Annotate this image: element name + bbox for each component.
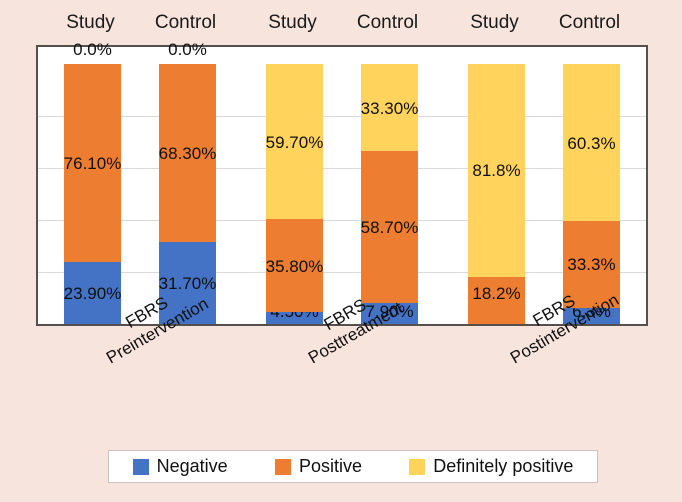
column-header-row: StudyControlStudyControlStudyControl [36,8,648,40]
legend-swatch-icon [133,459,149,475]
bar-value-label: 81.8% [472,162,520,179]
bar-segment-positive[interactable]: 68.30% [159,64,216,242]
legend-item-positive[interactable]: Positive [275,456,362,477]
legend-swatch-icon [409,459,425,475]
legend-label: Definitely positive [433,456,573,477]
bar-value-label: 68.30% [159,145,217,162]
column-header-0: Study [43,8,139,38]
legend-item-definitely-positive[interactable]: Definitely positive [409,456,573,477]
chart-plot-area: 23.90%76.10%0.0%31.70%68.30%0.0%4.50%35.… [36,45,648,326]
chart-legend: NegativePositiveDefinitely positive [108,450,598,483]
bar-value-label: 59.70% [266,134,324,151]
column-header-3: Control [340,8,436,38]
stacked-bar[interactable]: 23.90%76.10%0.0% [64,64,121,324]
bar-segment-positive[interactable]: 58.70% [361,151,418,304]
bar-value-label: 58.70% [361,219,419,236]
bar-segment-positive[interactable]: 76.10% [64,64,121,262]
bar-value-label: 18.2% [472,285,520,302]
stacked-bars-layer: 23.90%76.10%0.0%31.70%68.30%0.0%4.50%35.… [38,47,646,324]
legend-label: Negative [157,456,228,477]
bar-segment-definitely-positive[interactable]: 81.8% [468,64,525,277]
stacked-bar[interactable]: 0.0%18.2%81.8% [468,64,525,324]
column-header-4: Study [447,8,543,38]
bar-value-label: 35.80% [266,258,324,275]
legend-item-negative[interactable]: Negative [133,456,228,477]
bar-segment-negative[interactable]: 23.90% [64,262,121,324]
column-header-2: Study [245,8,341,38]
stacked-bar[interactable]: 4.50%35.80%59.70% [266,64,323,324]
bar-value-label: 76.10% [64,155,122,172]
legend-swatch-icon [275,459,291,475]
bar-value-label: 0.0% [73,41,112,58]
x-axis-labels: FBRSPreinterventionFBRSPosttreatmentFBRS… [0,326,682,436]
column-header-1: Control [138,8,234,38]
column-header-5: Control [542,8,638,38]
bar-segment-positive[interactable]: 18.2% [468,277,525,324]
bar-value-label: 0.0% [168,41,207,58]
bar-segment-definitely-positive[interactable]: 33.30% [361,64,418,151]
bar-value-label: 33.3% [567,256,615,273]
bar-value-label: 23.90% [64,285,122,302]
bar-value-label: 60.3% [567,135,615,152]
bar-segment-definitely-positive[interactable]: 59.70% [266,64,323,219]
bar-segment-definitely-positive[interactable]: 60.3% [563,64,620,221]
bar-segment-positive[interactable]: 35.80% [266,219,323,312]
legend-label: Positive [299,456,362,477]
bar-value-label: 33.30% [361,100,419,117]
